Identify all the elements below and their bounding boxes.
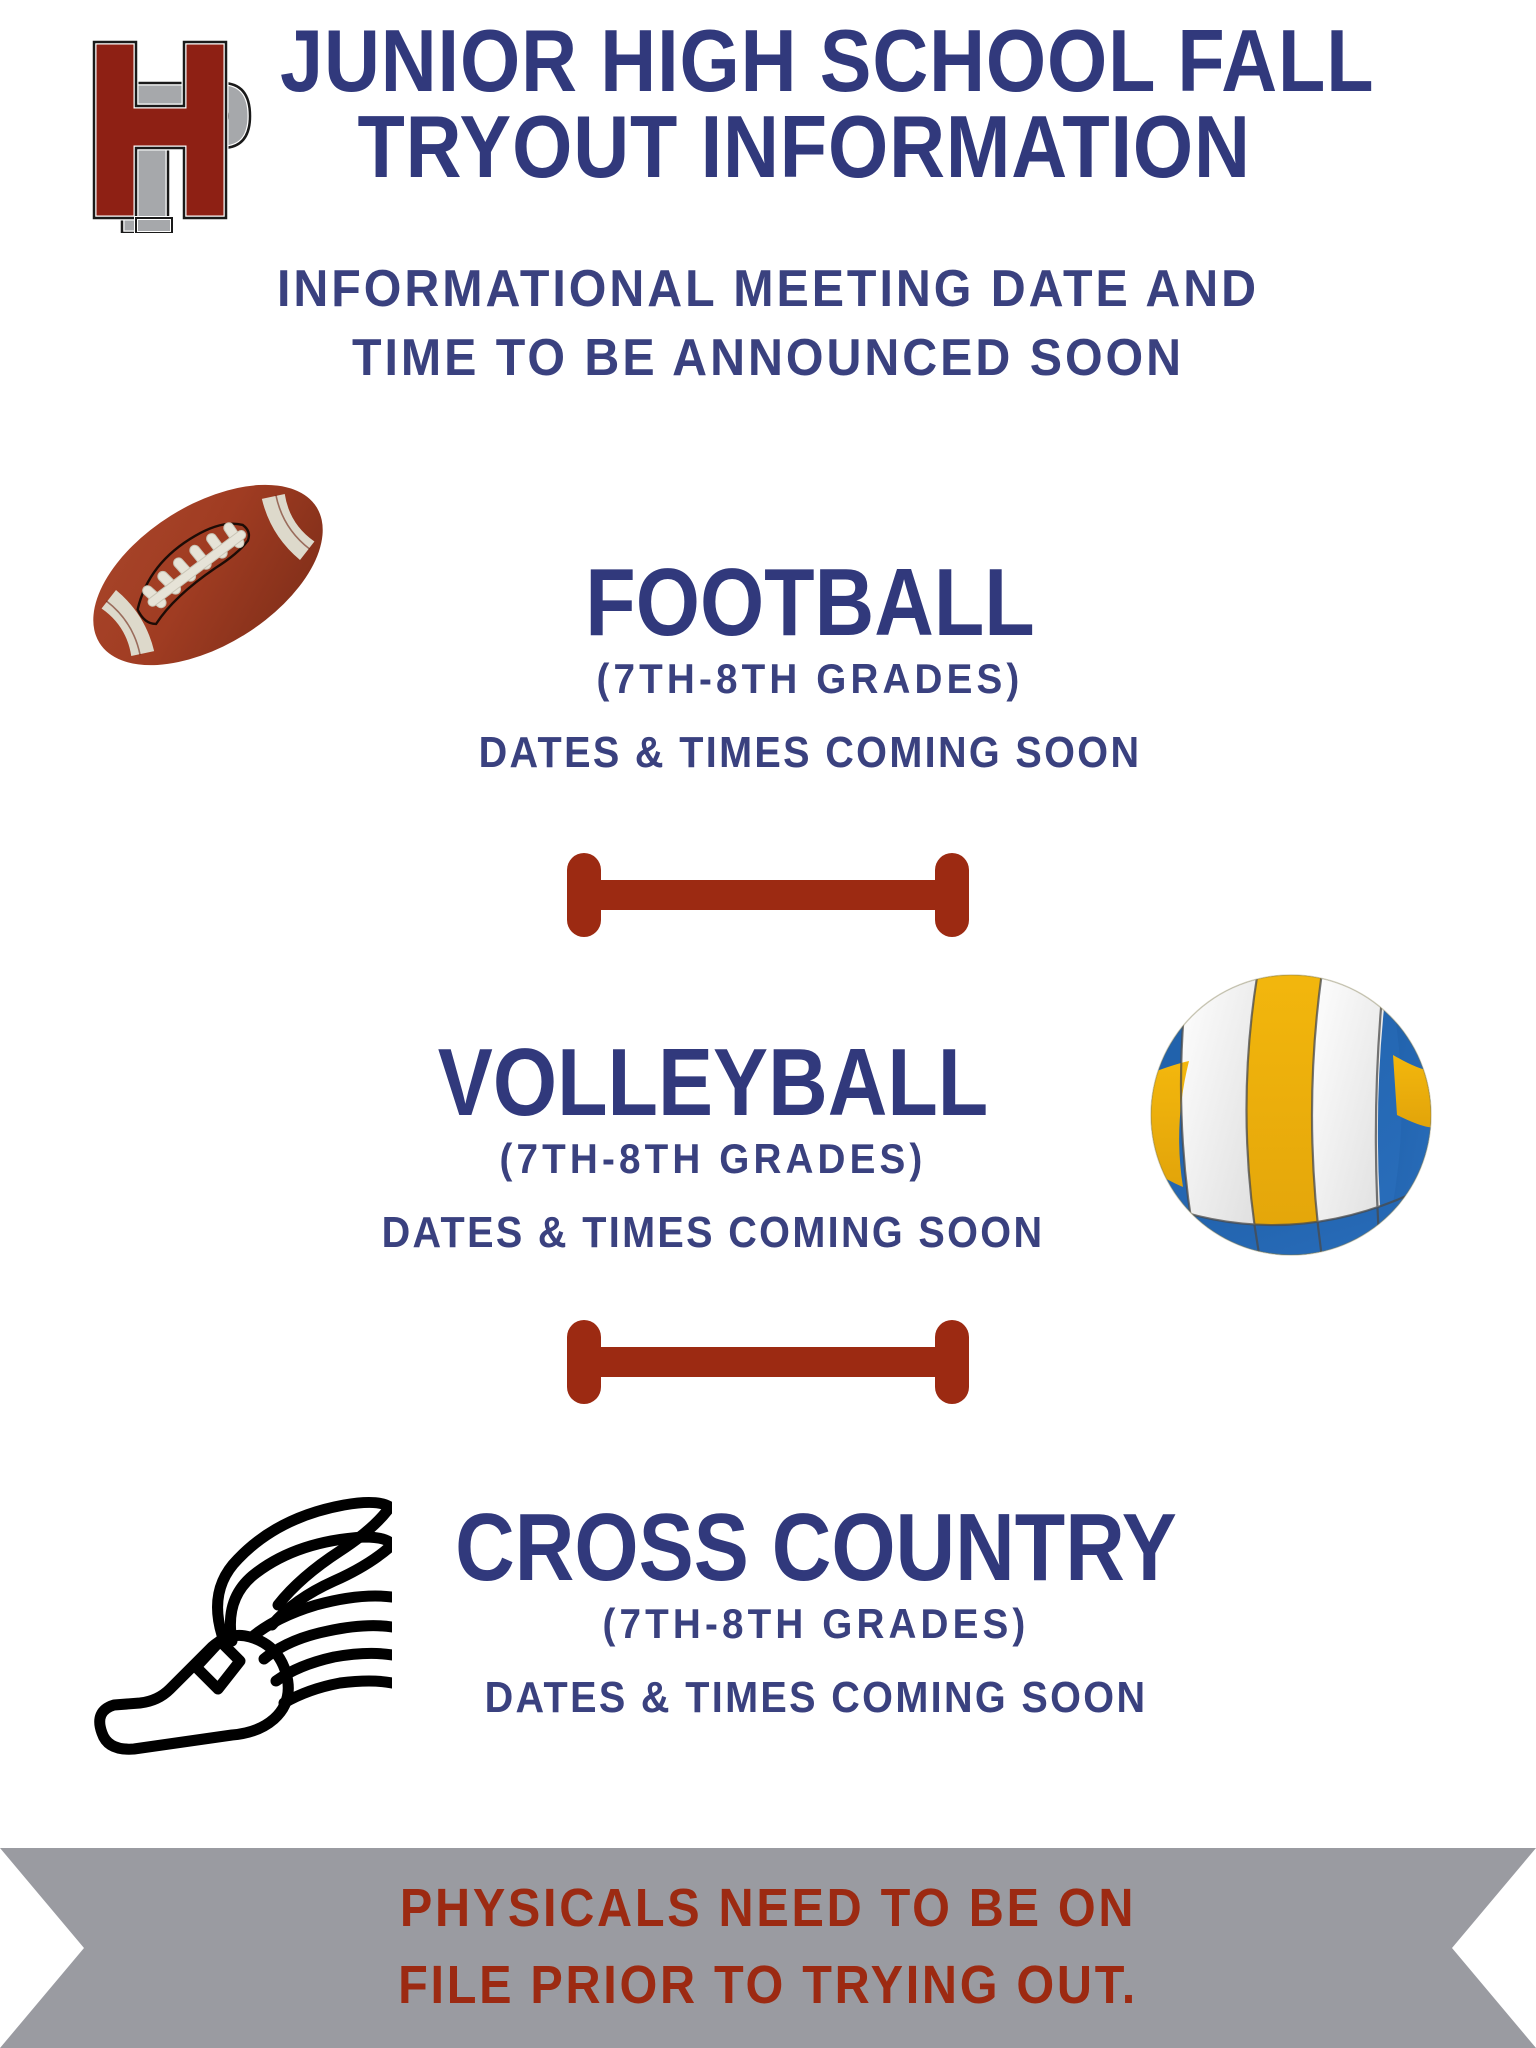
title-line-1: JUNIOR HIGH SCHOOL FALL (280, 18, 1354, 104)
page-title: JUNIOR HIGH SCHOOL FALL TRYOUT INFORMATI… (280, 18, 1500, 190)
meeting-line-2: TIME TO BE ANNOUNCED SOON (54, 324, 1482, 393)
title-line-2: TRYOUT INFORMATION (280, 104, 1354, 190)
sport-dates-crosscountry: DATES & TIMES COMING SOON (168, 1667, 1464, 1729)
physicals-ribbon: PHYSICALS NEED TO BE ON FILE PRIOR TO TR… (0, 1840, 1536, 2048)
hp-monogram-logo (72, 28, 262, 233)
crosscountry-text-block: CROSS COUNTRY (7TH-8TH GRADES) DATES & T… (0, 1500, 1536, 1728)
meeting-line-1: INFORMATIONAL MEETING DATE AND (54, 255, 1482, 324)
meeting-notice: INFORMATIONAL MEETING DATE AND TIME TO B… (0, 255, 1536, 392)
ribbon-text-block: PHYSICALS NEED TO BE ON FILE PRIOR TO TR… (0, 1840, 1536, 2048)
sport-grades-volleyball: (7TH-8TH GRADES) (57, 1131, 1369, 1188)
sport-grades-football: (7TH-8TH GRADES) (142, 651, 1478, 708)
ribbon-line-2: FILE PRIOR TO TRYING OUT. (398, 1947, 1138, 2024)
sport-grades-crosscountry: (7TH-8TH GRADES) (154, 1596, 1479, 1653)
volleyball-text-block: VOLLEYBALL (7TH-8TH GRADES) DATES & TIME… (0, 1035, 1536, 1263)
sport-name-football: FOOTBALL (186, 555, 1435, 651)
sport-dates-volleyball: DATES & TIMES COMING SOON (71, 1202, 1354, 1264)
flyer-page: JUNIOR HIGH SCHOOL FALL TRYOUT INFORMATI… (0, 0, 1536, 2048)
sport-name-volleyball: VOLLEYBALL (100, 1035, 1326, 1131)
sport-dates-football: DATES & TIMES COMING SOON (157, 722, 1464, 784)
barbell-divider (0, 845, 1536, 955)
header: JUNIOR HIGH SCHOOL FALL TRYOUT INFORMATI… (0, 0, 1536, 250)
ribbon-line-1: PHYSICALS NEED TO BE ON (400, 1870, 1136, 1947)
sport-name-crosscountry: CROSS COUNTRY (197, 1500, 1435, 1596)
barbell-divider (0, 1312, 1536, 1422)
football-text-block: FOOTBALL (7TH-8TH GRADES) DATES & TIMES … (0, 555, 1536, 783)
